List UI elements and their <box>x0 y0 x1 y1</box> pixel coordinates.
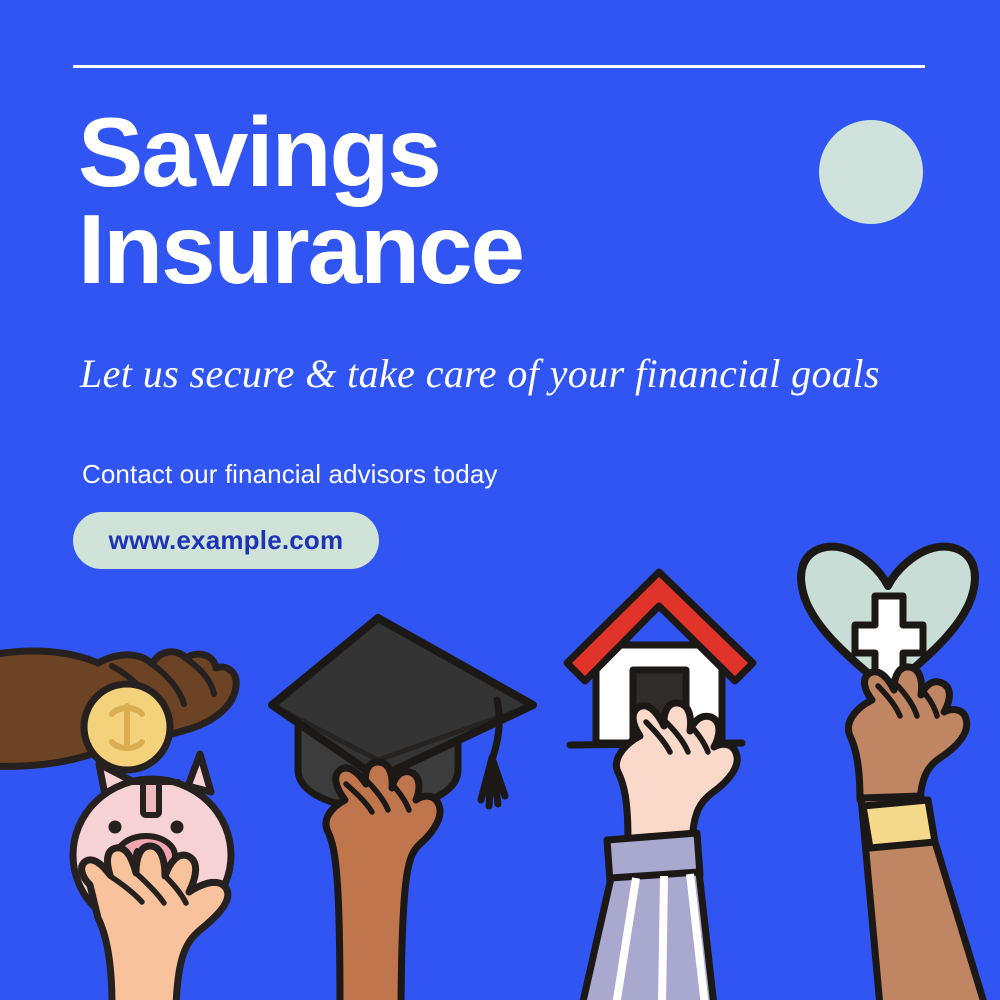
heart-hand-crease-3 <box>922 690 937 716</box>
house-hand-crease-2 <box>666 722 688 752</box>
piggy-ear-left <box>99 764 134 800</box>
gold-coin <box>84 684 170 770</box>
piggy-hand-finger-crease-2 <box>137 874 164 903</box>
poster-canvas: Savings Insurance Let us secure & take c… <box>0 0 1000 1000</box>
graduation-tassel-fringe <box>481 758 505 806</box>
house-with-red-roof <box>567 572 753 1000</box>
piggy-bank-with-coin <box>0 651 236 1000</box>
piggy-coin-slot <box>143 781 159 815</box>
house-hand-crease-1 <box>646 722 670 752</box>
piggy-ear-right <box>188 754 211 792</box>
tagline: Let us secure & take care of your financ… <box>80 352 960 396</box>
graduation-hand-crease-2 <box>366 780 388 810</box>
piggy-nostril-right <box>152 848 160 864</box>
piggy-holding-hand <box>82 846 228 1000</box>
graduation-cap-base <box>298 719 458 808</box>
heart-forearm <box>861 796 985 1000</box>
house-sleeve-stripe-2 <box>662 876 664 1000</box>
house-holding-hand <box>616 703 737 840</box>
website-url-button[interactable]: www.example.com <box>73 512 379 569</box>
graduation-cap-hand <box>326 762 440 1000</box>
piggy-nostril-left <box>133 848 141 864</box>
wristband <box>863 800 935 848</box>
house-sleeve-stripe-3 <box>690 874 705 1000</box>
page-title-line-2: Insurance <box>78 201 818 298</box>
mint-circle-decoration <box>819 120 923 224</box>
medical-cross-icon <box>855 596 923 682</box>
coin-hand-finger-line-3 <box>188 660 214 694</box>
house-sleeve-cuff <box>607 833 700 882</box>
contact-prompt: Contact our financial advisors today <box>82 459 498 490</box>
mint-heart <box>801 547 975 690</box>
piggy-body <box>73 779 231 931</box>
graduation-cap <box>272 618 533 1000</box>
house-wall <box>596 645 722 743</box>
graduation-hand-crease-3 <box>392 784 409 810</box>
piggy-eye-left <box>109 821 122 834</box>
heart-hand-crease-2 <box>898 686 917 716</box>
heart-with-cross <box>801 547 985 1000</box>
house-hand-crease-3 <box>691 726 708 752</box>
house-roof <box>567 572 753 681</box>
heart-holding-hand <box>848 667 966 800</box>
page-title: Savings Insurance <box>78 104 818 298</box>
graduation-hand-crease-1 <box>346 784 372 812</box>
graduation-tassel-cord <box>492 700 499 760</box>
top-divider-rule <box>73 65 925 68</box>
piggy-snout <box>117 836 175 876</box>
piggy-eye-right <box>171 821 184 834</box>
house-sleeve-stripe-1 <box>616 878 636 1000</box>
graduation-cap-board <box>272 618 533 778</box>
heart-hand-crease-1 <box>878 686 900 716</box>
house-striped-sleeve <box>582 872 714 1000</box>
page-title-line-1: Savings <box>78 104 818 201</box>
graduation-cap-board-crease <box>272 705 533 760</box>
house-ground-line <box>570 743 742 745</box>
coin-hand-finger-line-2 <box>152 664 184 704</box>
piggy-hand-finger-crease-3 <box>166 877 186 903</box>
piggy-hand-finger-crease-1 <box>110 876 142 902</box>
website-url-label: www.example.com <box>109 525 344 556</box>
coin-dropping-hand <box>0 651 236 766</box>
coin-hand-finger-line-1 <box>112 666 152 706</box>
coin-currency-symbol <box>112 706 142 748</box>
house-door <box>633 670 686 743</box>
